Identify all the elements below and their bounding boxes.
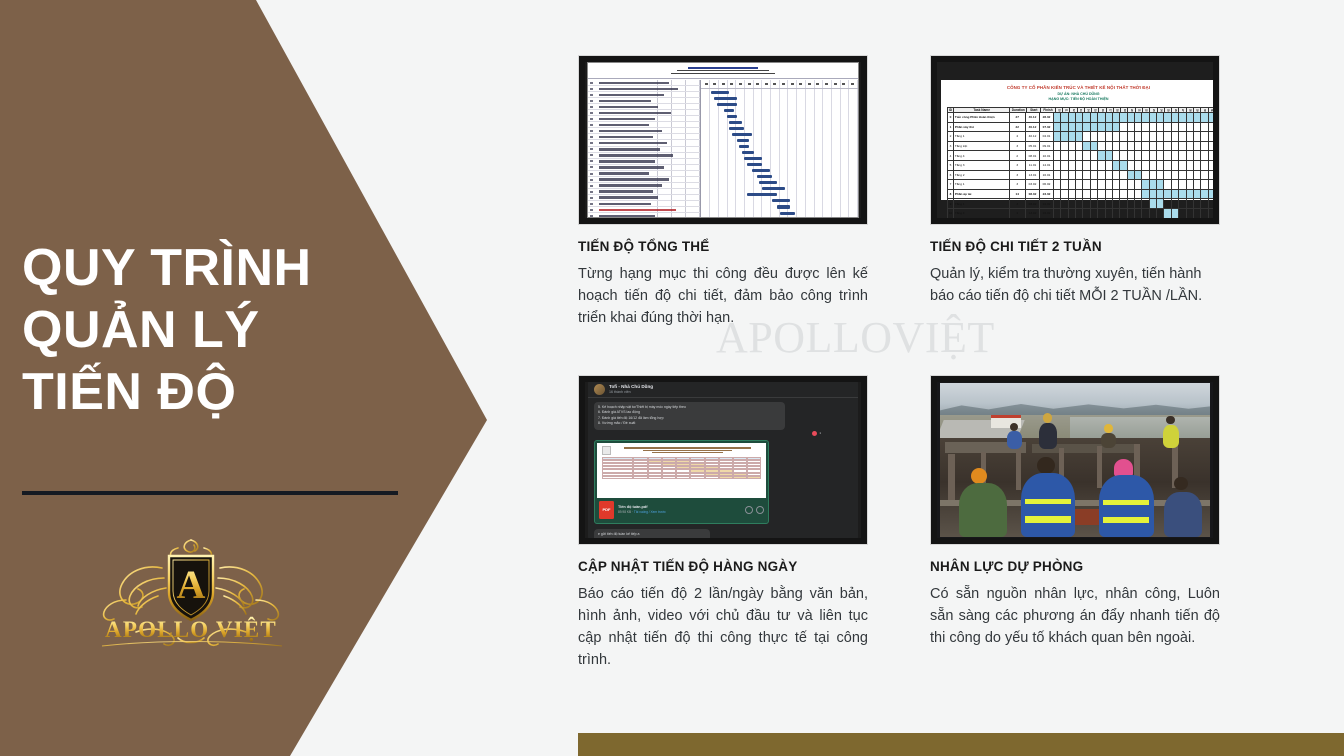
schedule-screenshot: CÔNG TY CỔ PHẦN KIẾN TRÚC VÀ THIẾT KẾ NỘ… — [931, 56, 1219, 224]
card-body: Quản lý, kiểm tra thường xuyên, tiến hàn… — [930, 263, 1220, 307]
bottom-gold-bar — [578, 733, 1344, 756]
card-title: TIẾN ĐỘ TỔNG THỂ — [578, 239, 868, 254]
card-tien-do-tong-the: TIẾN ĐỘ TỔNG THỂ Từng hạng mục thi công … — [578, 55, 868, 329]
card-title: CẬP NHẬT TIẾN ĐỘ HÀNG NGÀY — [578, 559, 868, 574]
apollo-viet-logo-icon: A APOLLO VIỆT — [66, 534, 316, 650]
brand-logo: A APOLLO VIỆT — [66, 534, 316, 650]
card-tien-do-chi-tiet-2-tuan: CÔNG TY CỔ PHẦN KIẾN TRÚC VÀ THIẾT KẾ NỘ… — [930, 55, 1220, 307]
card-body: Báo cáo tiến độ 2 lần/ngày bằng văn bản,… — [578, 583, 868, 671]
logo-wordmark: APOLLO VIỆT — [105, 617, 277, 642]
construction-site-photo — [931, 376, 1219, 544]
page-title: QUY TRÌNH QUẢN LÝ TIẾN ĐỘ — [22, 238, 422, 424]
thumbnail-two-week-schedule[interactable]: CÔNG TY CỔ PHẦN KIẾN TRÚC VÀ THIẾT KẾ NỘ… — [930, 55, 1220, 225]
card-nhan-luc-du-phong: NHÂN LỰC DỰ PHÒNG Có sẵn nguồn nhân lực,… — [930, 375, 1220, 649]
card-cap-nhat-tien-do-hang-ngay: Tofi - Nhà Chú Dũng 16 thành viên 5. Kế … — [578, 375, 868, 671]
gantt-screenshot — [579, 56, 867, 224]
card-title: TIẾN ĐỘ CHI TIẾT 2 TUẦN — [930, 239, 1220, 254]
thumbnail-border — [579, 376, 867, 544]
page-title-line-2: QUẢN LÝ — [22, 300, 422, 362]
page-title-line-1: QUY TRÌNH — [22, 238, 422, 300]
card-body: Từng hạng mục thi công đều được lên kế h… — [578, 263, 868, 329]
hero-panel: QUY TRÌNH QUẢN LÝ TIẾN ĐỘ — [0, 0, 470, 756]
logo-monogram: A — [177, 562, 206, 607]
card-title: NHÂN LỰC DỰ PHÒNG — [930, 559, 1220, 574]
thumbnail-border — [931, 376, 1219, 544]
thumbnail-border — [931, 56, 1219, 224]
chat-screenshot: Tofi - Nhà Chú Dũng 16 thành viên 5. Kế … — [579, 376, 867, 544]
thumbnail-gantt-chart[interactable] — [578, 55, 868, 225]
page-title-line-3: TIẾN ĐỘ — [22, 362, 422, 424]
card-body: Có sẵn nguồn nhân lực, nhân công, Luôn s… — [930, 583, 1220, 649]
title-divider — [22, 491, 398, 495]
thumbnail-chat-group[interactable]: Tofi - Nhà Chú Dũng 16 thành viên 5. Kế … — [578, 375, 868, 545]
thumbnail-border — [579, 56, 867, 224]
thumbnail-construction-site[interactable] — [930, 375, 1220, 545]
